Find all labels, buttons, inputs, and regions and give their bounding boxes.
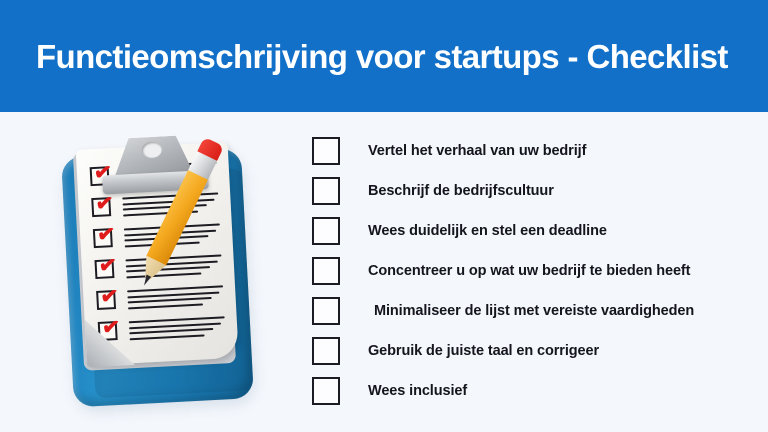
checklist-item-label: Gebruik de juiste taal en corrigeer <box>368 343 599 359</box>
checklist-infographic: Functieomschrijving voor startups - Chec… <box>0 0 768 432</box>
paper-checkbox: ✔ <box>91 197 111 217</box>
checklist-item[interactable]: Gebruik de juiste taal en corrigeer <box>312 331 760 371</box>
paper-text-line <box>128 303 203 309</box>
check-mark-icon: ✔ <box>95 193 118 216</box>
header-banner: Functieomschrijving voor startups - Chec… <box>0 0 768 112</box>
page-title: Functieomschrijving voor startups - Chec… <box>0 40 728 73</box>
checklist-item-label: Concentreer u op wat uw bedrijf te biede… <box>368 263 690 279</box>
checkbox-3[interactable] <box>312 217 340 245</box>
checklist-item-label: Minimaliseer de lijst met vereiste vaard… <box>374 303 694 319</box>
paper-checkbox: ✔ <box>93 228 113 248</box>
clipboard-illustration: ✔✔✔✔✔✔ <box>55 128 290 408</box>
checklist-item[interactable]: Beschrijf de bedrijfscultuur <box>312 171 760 211</box>
paper-text-lines <box>129 316 226 343</box>
paper-checkbox: ✔ <box>96 290 116 310</box>
checklist-item[interactable]: Concentreer u op wat uw bedrijf te biede… <box>312 251 760 291</box>
checklist-item[interactable]: Wees duidelijk en stel een deadline <box>312 211 760 251</box>
checklist-item-label: Wees inclusief <box>368 383 467 399</box>
check-mark-icon: ✔ <box>101 316 124 339</box>
checklist-item-label: Beschrijf de bedrijfscultuur <box>368 183 554 199</box>
paper-text-line <box>130 334 205 340</box>
checkbox-1[interactable] <box>312 137 340 165</box>
check-mark-icon: ✔ <box>98 254 121 277</box>
checkbox-2[interactable] <box>312 177 340 205</box>
checkbox-4[interactable] <box>312 257 340 285</box>
checklist-item-label: Vertel het verhaal van uw bedrijf <box>368 143 586 159</box>
check-mark-icon: ✔ <box>100 285 123 308</box>
checklist-item[interactable]: Minimaliseer de lijst met vereiste vaard… <box>312 291 760 331</box>
paper-row: ✔ <box>78 189 231 223</box>
checklist-items: Vertel het verhaal van uw bedrijfBeschri… <box>312 131 760 411</box>
paper-text-lines <box>127 285 224 312</box>
checkbox-5[interactable] <box>312 297 340 325</box>
check-mark-icon: ✔ <box>96 223 119 246</box>
checklist-item[interactable]: Wees inclusief <box>312 371 760 411</box>
clipboard-graphic: ✔✔✔✔✔✔ <box>48 122 297 414</box>
checklist-item-label: Wees duidelijk en stel een deadline <box>368 223 607 239</box>
checkbox-7[interactable] <box>312 377 340 405</box>
checklist-item[interactable]: Vertel het verhaal van uw bedrijf <box>312 131 760 171</box>
checkbox-6[interactable] <box>312 337 340 365</box>
paper-checkbox: ✔ <box>94 259 114 279</box>
